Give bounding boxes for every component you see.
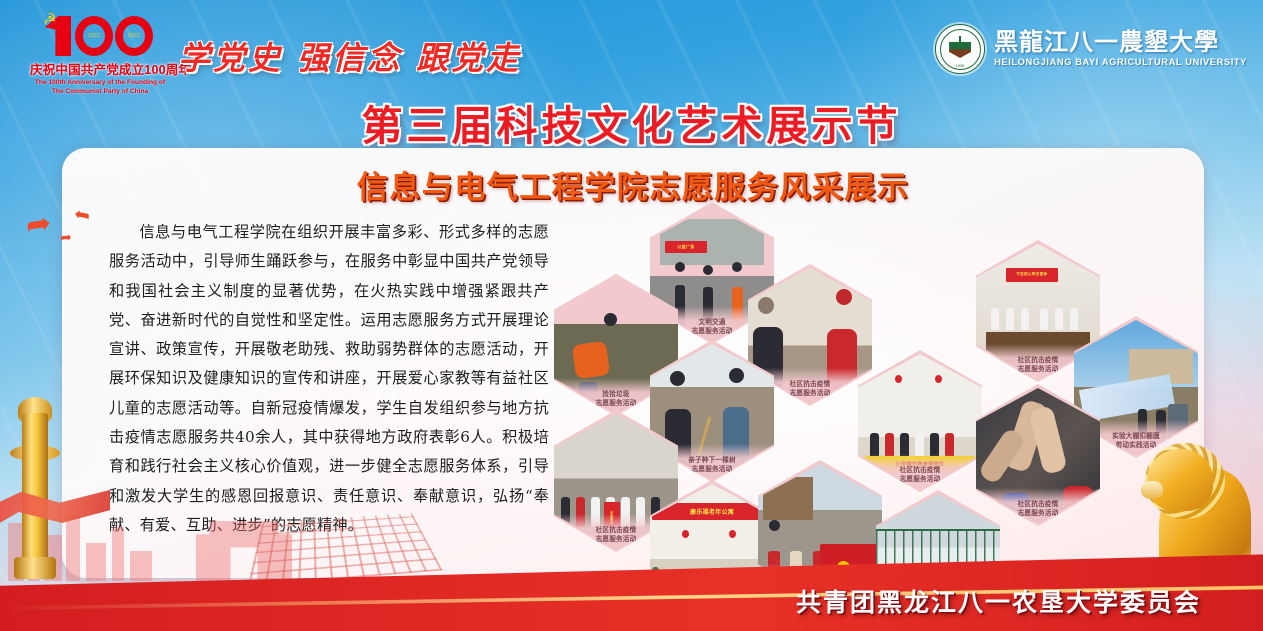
photo-hex-group-hz[interactable]: 让字镇志愿者服务队 社区抗击疫情志愿服务活动 — [858, 350, 982, 492]
university-name-en: HEILONGJIANG BAYI AGRICULTURAL UNIVERSIT… — [994, 58, 1247, 67]
dove-icon: ➦ — [72, 205, 91, 226]
page-title: 第三届科技文化艺术展示节 — [0, 92, 1263, 152]
university-lockup: 1958 黑龍江八一農墾大學 HEILONGJIANG BAYI AGRICUL… — [935, 24, 1247, 74]
anniversary-en-line1: The 100th Anniversary of the Founding of — [30, 79, 170, 87]
numeral-zero-first: 1921 — [75, 16, 113, 56]
poster-stage: ☭ 1921 2021 庆祝中国共产党成立100周年 The 100th Ann… — [0, 0, 1263, 631]
top-banner-row: ☭ 1921 2021 庆祝中国共产党成立100周年 The 100th Ann… — [0, 0, 1263, 96]
banner-text-nursing: 康乐福老年公寓 — [652, 503, 771, 520]
hundred-numeral: ☭ 1921 2021 — [37, 14, 163, 58]
party-slogan: 学党史 强信念 跟党走 — [178, 33, 521, 79]
dove-icon: ➦ — [24, 208, 53, 241]
seal-book — [949, 42, 971, 58]
year-2021: 2021 — [128, 33, 140, 39]
dove-icon: ➦ — [60, 230, 73, 245]
cpc-100-anniversary-emblem: ☭ 1921 2021 庆祝中国共产党成立100周年 The 100th Ann… — [30, 14, 170, 90]
year-1921: 1921 — [88, 33, 100, 39]
university-seal-icon: 1958 — [935, 24, 985, 74]
caption-plate — [858, 454, 982, 488]
peace-doves: ➦ ➦ ➦ — [18, 206, 114, 252]
hammer-sickle-icon: ☭ — [43, 12, 56, 27]
seal-year: 1958 — [956, 63, 965, 68]
anniversary-cn-text: 庆祝中国共产党成立100周年 — [30, 59, 170, 78]
caption-plate — [976, 488, 1100, 522]
university-name-cn: 黑龍江八一農墾大學 — [994, 30, 1247, 54]
footer-ribbon: 共青团黑龙江八一农垦大学委员会 — [0, 527, 1263, 631]
photo-collage: 公益广告 文明交通志愿服务活动 — [532, 198, 1192, 578]
footer-organization: 共青团黑龙江八一农垦大学委员会 — [796, 583, 1201, 619]
university-text: 黑龍江八一農墾大學 HEILONGJIANG BAYI AGRICULTURAL… — [994, 30, 1247, 67]
photo-image-group-hz: 让字镇志愿者服务队 — [858, 354, 982, 488]
numeral-zero-second: 2021 — [115, 16, 153, 56]
